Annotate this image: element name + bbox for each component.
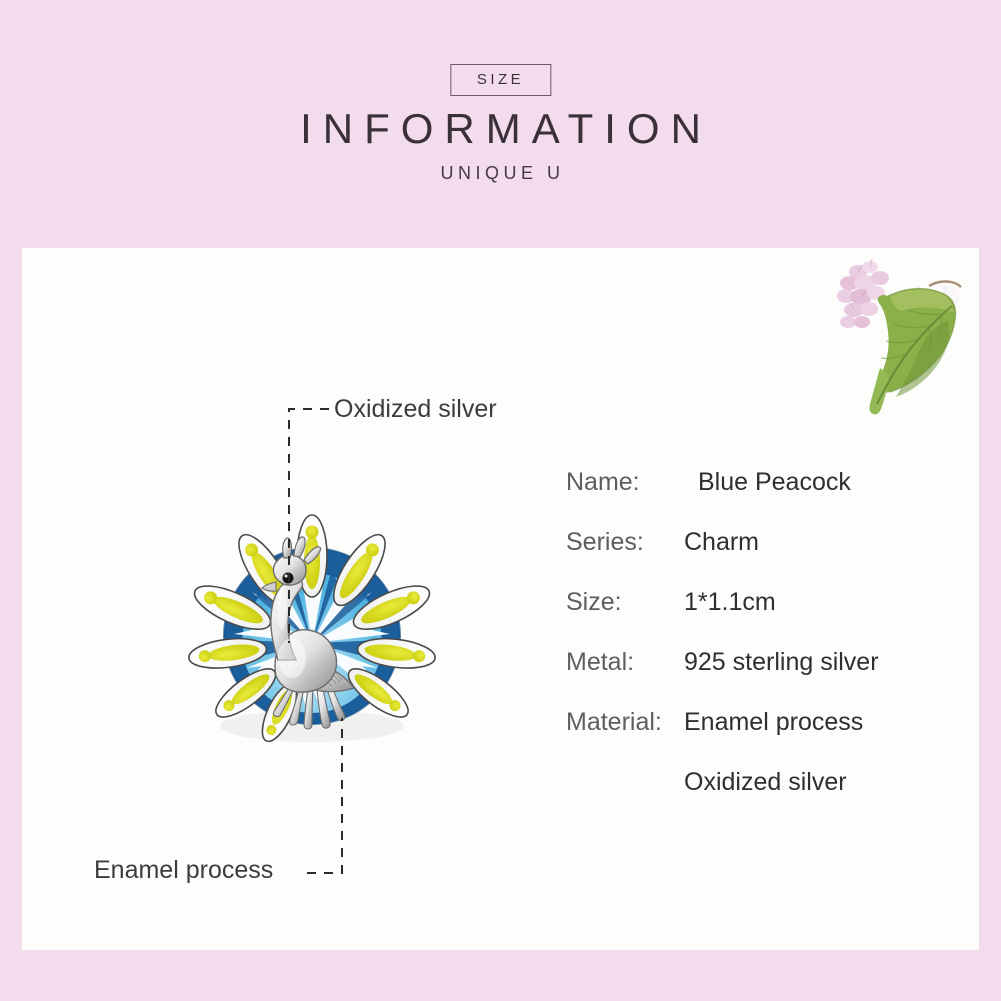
spec-row-metal: Metal: 925 sterling silver [566, 650, 966, 710]
spec-row-name: Name: Blue Peacock [566, 470, 966, 530]
leaf-blossom-icon [828, 250, 973, 420]
spec-label-name: Name: [566, 470, 684, 495]
spec-value-material: Enamel process [684, 710, 863, 735]
spec-value-material-second: Oxidized silver [684, 770, 847, 795]
size-badge: SIZE [450, 64, 551, 96]
product-spec-list: Name: Blue Peacock Series: Charm Size: 1… [566, 470, 966, 830]
information-card: Oxidized silver Enamel process Name: Blu… [22, 248, 979, 950]
page-title: INFORMATION [0, 105, 1001, 153]
spec-value-metal: 925 sterling silver [684, 650, 879, 675]
spec-label-series: Series: [566, 530, 684, 555]
page-subtitle: UNIQUE U [0, 163, 1001, 184]
spec-label-size: Size: [566, 590, 684, 615]
callout-label-enamel-process: Enamel process [94, 856, 273, 885]
callout-label-oxidized-silver: Oxidized silver [334, 395, 497, 424]
spec-row-series: Series: Charm [566, 530, 966, 590]
spec-row-material-second: Oxidized silver [566, 770, 966, 830]
spec-value-size: 1*1.1cm [684, 590, 776, 615]
spec-row-size: Size: 1*1.1cm [566, 590, 966, 650]
spec-label-material: Material: [566, 710, 684, 735]
spec-label-metal: Metal: [566, 650, 684, 675]
peacock-charm-image [172, 508, 462, 758]
spec-value-name: Blue Peacock [684, 470, 851, 495]
spec-value-series: Charm [684, 530, 759, 555]
page-header: SIZE INFORMATION UNIQUE U [0, 0, 1001, 248]
spec-row-material: Material: Enamel process [566, 710, 966, 770]
